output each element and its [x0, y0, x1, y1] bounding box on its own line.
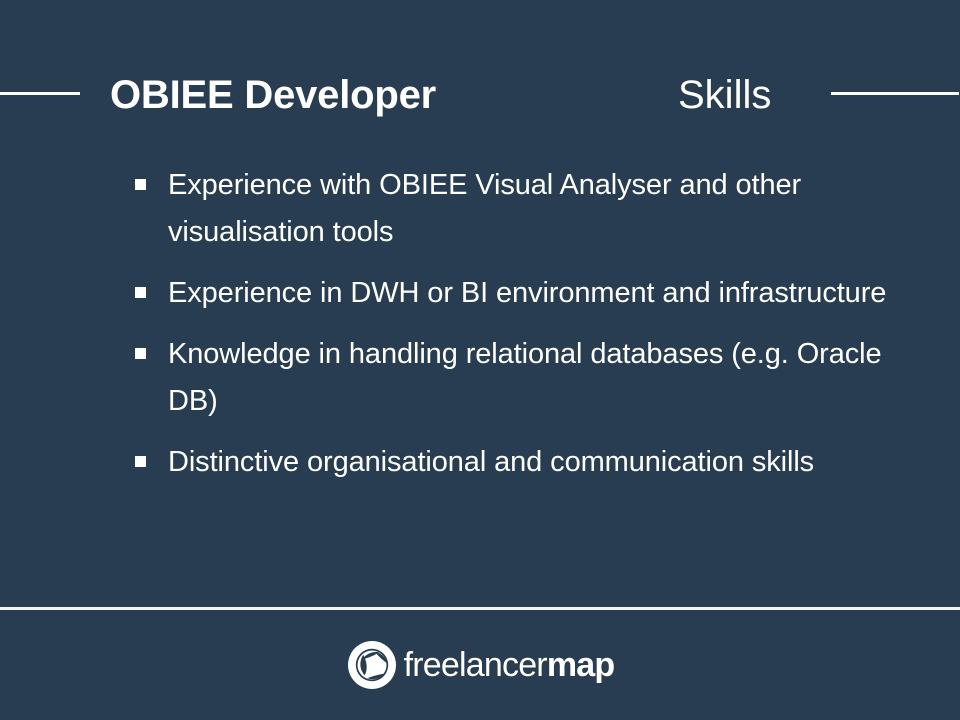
- list-item-label: Experience in DWH or BI environment and …: [168, 277, 886, 309]
- square-bullet-icon: [135, 348, 146, 359]
- freelancermap-logo: freelancermap: [346, 639, 615, 691]
- freelancermap-aperture-icon: [346, 639, 398, 691]
- slide-root: OBIEE Developer Skills Experience with O…: [0, 0, 960, 720]
- header-rule-left-icon: [0, 92, 80, 95]
- square-bullet-icon: [135, 179, 146, 190]
- square-bullet-icon: [135, 456, 146, 467]
- page-title: OBIEE Developer: [110, 60, 436, 130]
- square-bullet-icon: [135, 287, 146, 298]
- list-item-label: Knowledge in handling relational databas…: [168, 338, 882, 417]
- slide-header: OBIEE Developer Skills: [0, 60, 960, 130]
- list-item: Experience in DWH or BI environment and …: [130, 270, 930, 317]
- list-item: Distinctive organisational and communica…: [130, 439, 930, 486]
- logo-text-bold: map: [547, 646, 615, 684]
- page-subtitle: Skills: [678, 60, 771, 130]
- header-rule-right-icon: [831, 92, 959, 95]
- list-item: Experience with OBIEE Visual Analyser an…: [130, 162, 930, 256]
- logo-text-light: freelancer: [404, 646, 547, 684]
- list-item: Knowledge in handling relational databas…: [130, 331, 930, 425]
- list-item-label: Distinctive organisational and communica…: [168, 446, 814, 478]
- logo-wordmark: freelancermap: [404, 648, 615, 682]
- list-item-label: Experience with OBIEE Visual Analyser an…: [168, 169, 801, 248]
- skills-list: Experience with OBIEE Visual Analyser an…: [130, 162, 930, 500]
- slide-footer: freelancermap: [0, 610, 960, 720]
